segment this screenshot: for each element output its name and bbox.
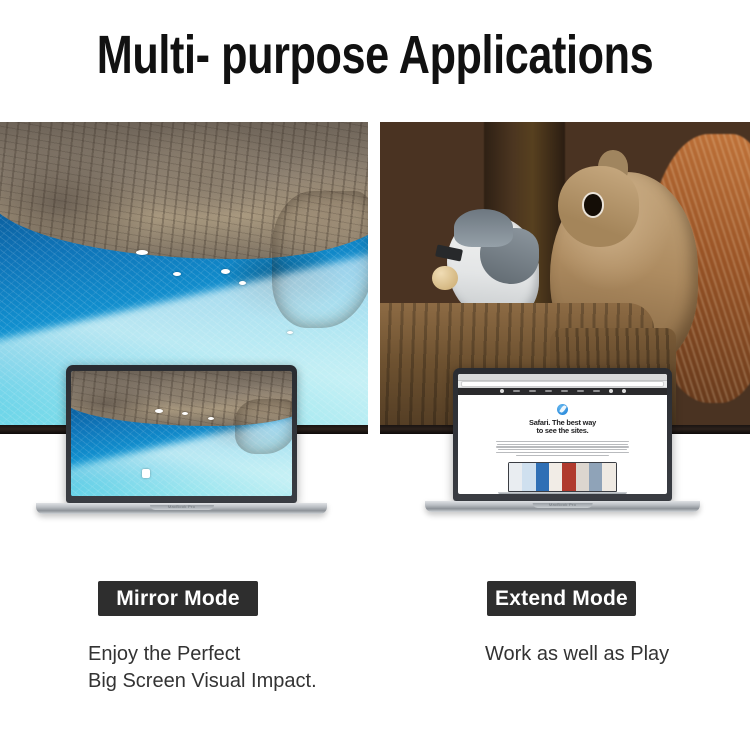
caption-mirror-mode: Enjoy the Perfect Big Screen Visual Impa… [88,641,317,695]
url-input[interactable] [461,381,664,387]
boat [142,469,150,478]
laptop-brand-label: MacBook Pro [168,504,195,509]
safari-start-page-preview [509,463,616,491]
bag-icon[interactable] [622,389,626,393]
laptop-screen-right: Safari. The best way to see the sites. [458,374,667,494]
boat [155,409,163,413]
nav-link[interactable] [529,390,536,392]
safari-heading-line2: to see the sites. [536,427,588,436]
boat [136,250,148,255]
laptop-brand-label: MacBook Pro [549,502,576,507]
safari-compass-icon [557,404,568,415]
site-nav-bar[interactable] [458,388,667,395]
boat [173,272,181,276]
nav-link[interactable] [545,390,552,392]
panel-extend-mode: Safari. The best way to see the sites. [380,122,750,530]
apple-logo-icon[interactable] [500,389,504,393]
laptop-screen-left [71,371,292,496]
nav-link[interactable] [577,390,584,392]
product-feature-page: Multi- purpose Applications [0,0,750,750]
cliff-right-outcrop [235,399,292,454]
status-badge-extend-mode: Extend Mode [487,581,636,616]
nuthatch-head-cap [454,209,513,246]
search-icon[interactable] [609,389,613,393]
laptop-base-right: MacBook Pro [425,501,701,512]
safari-body-copy [496,441,630,456]
laptop-left: MacBook Pro [66,365,297,503]
safari-inline-laptop-image [508,462,617,492]
laptop-right: Safari. The best way to see the sites. [453,368,672,501]
page-title: Multi- purpose Applications [75,24,675,86]
safari-inline-laptop-base [498,492,628,494]
browser-tab-bar[interactable] [458,374,667,381]
seed-nut [432,266,458,291]
safari-hero-section: Safari. The best way to see the sites. [458,395,667,494]
laptop-lid-left [66,365,297,503]
nav-link[interactable] [593,390,600,392]
squirrel-eye [584,194,603,216]
status-badge-mirror-mode: Mirror Mode [98,581,258,616]
laptop-lid-right: Safari. The best way to see the sites. [453,368,672,501]
browser-url-bar[interactable] [458,381,667,388]
laptop-base-left: MacBook Pro [36,503,327,514]
nav-link[interactable] [513,390,520,392]
nav-link[interactable] [561,390,568,392]
boat [221,269,230,274]
caption-extend-mode: Work as well as Play [485,641,669,668]
beach-photo-laptop [71,371,292,496]
safari-browser-window: Safari. The best way to see the sites. [458,374,667,494]
panel-mirror-mode: MacBook Pro [0,122,368,530]
cliff-right-outcrop [272,191,368,328]
